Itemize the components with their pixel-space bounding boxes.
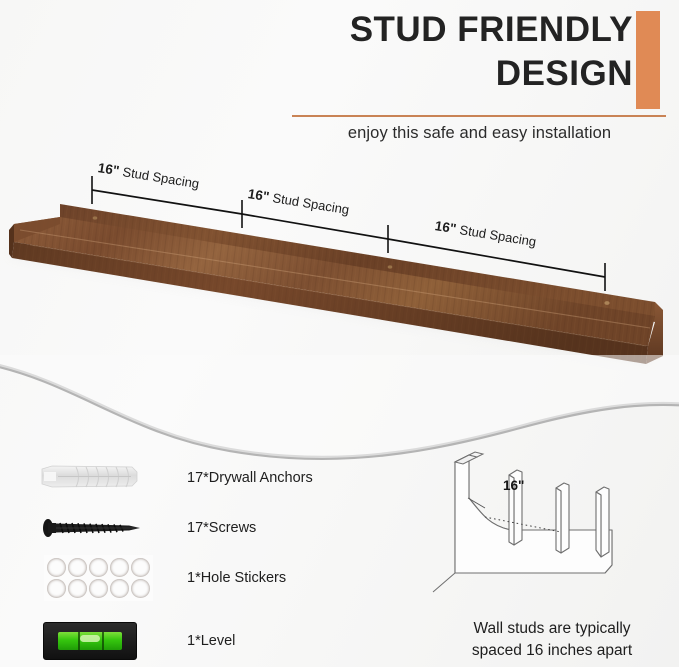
sticker (131, 558, 150, 577)
list-item: 1*Hole Stickers (36, 553, 286, 603)
level-icon (36, 618, 154, 664)
hole-stickers-icon (36, 553, 154, 603)
caption-line-2: spaced 16 inches apart (428, 640, 676, 662)
sticker-grid (44, 555, 153, 601)
list-item: 17*Drywall Anchors (36, 455, 313, 501)
list-item-label: 17*Drywall Anchors (187, 470, 313, 486)
level-vial (58, 632, 122, 650)
dimension-value-3: 16" (434, 218, 458, 236)
sticker (110, 579, 129, 598)
wall-stud-diagram: 16" (425, 440, 679, 610)
stud-measure-label: 16" (503, 478, 524, 493)
dim-line (242, 214, 388, 239)
stud-diagram-caption: Wall studs are typically spaced 16 inche… (428, 618, 676, 662)
dim-line (388, 239, 605, 277)
list-item-label: 17*Screws (187, 520, 256, 536)
sticker (131, 579, 150, 598)
sticker (47, 579, 66, 598)
list-item: 17*Screws (36, 505, 256, 551)
level-body (43, 622, 137, 660)
caption-line-1: Wall studs are typically (428, 618, 676, 640)
wall-stud (556, 483, 569, 553)
sticker (89, 558, 108, 577)
drywall-anchor-icon (36, 455, 154, 501)
sticker (68, 558, 87, 577)
sticker (89, 579, 108, 598)
dimension-value-1: 16" (97, 160, 121, 178)
dimension-value-2: 16" (247, 186, 271, 204)
dim-line (92, 190, 242, 214)
sticker (47, 558, 66, 577)
screw-icon (36, 505, 154, 551)
infographic-canvas: STUD FRIENDLY DESIGN enjoy this safe and… (0, 0, 679, 667)
sticker (68, 579, 87, 598)
sticker (110, 558, 129, 577)
wall-stud (596, 487, 609, 557)
list-item-label: 1*Hole Stickers (187, 570, 286, 586)
list-item-label: 1*Level (187, 633, 235, 649)
list-item: 1*Level (36, 618, 235, 664)
level-bubble (80, 635, 100, 642)
